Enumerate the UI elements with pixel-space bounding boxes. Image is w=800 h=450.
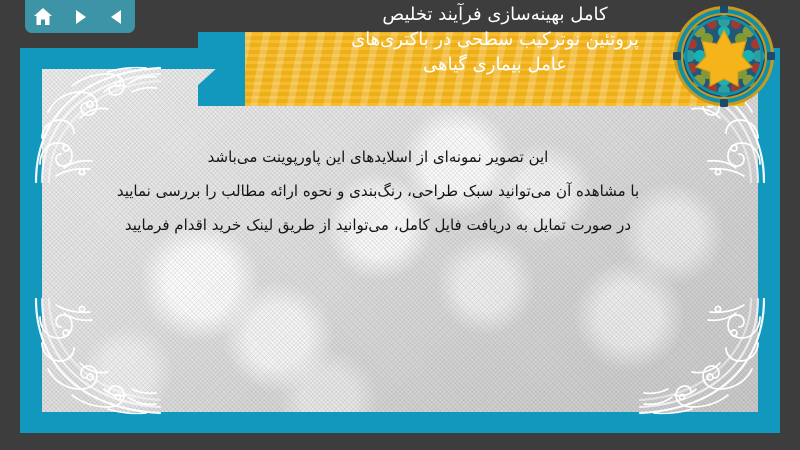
body-line: این تصویر نمونه‌ای از اسلایدهای این پاور… (60, 140, 696, 174)
next-arrow-icon (70, 7, 90, 27)
navigation-bar (25, 0, 135, 33)
home-button[interactable] (30, 4, 56, 30)
body-line: در صورت تمایل به دریافت فایل کامل، می‌تو… (60, 208, 696, 242)
previous-arrow-icon (107, 7, 127, 27)
title-banner (245, 32, 745, 106)
slide-preview-window: این تصویر نمونه‌ای از اسلایدهای این پاور… (0, 0, 800, 450)
next-button[interactable] (67, 4, 93, 30)
previous-button[interactable] (104, 4, 130, 30)
slide-body-text: این تصویر نمونه‌ای از اسلایدهای این پاور… (60, 140, 696, 242)
persian-medallion-icon (672, 4, 776, 108)
body-line: با مشاهده آن می‌توانید سبک طراحی، رنگ‌بن… (60, 174, 696, 208)
home-icon (32, 6, 54, 28)
